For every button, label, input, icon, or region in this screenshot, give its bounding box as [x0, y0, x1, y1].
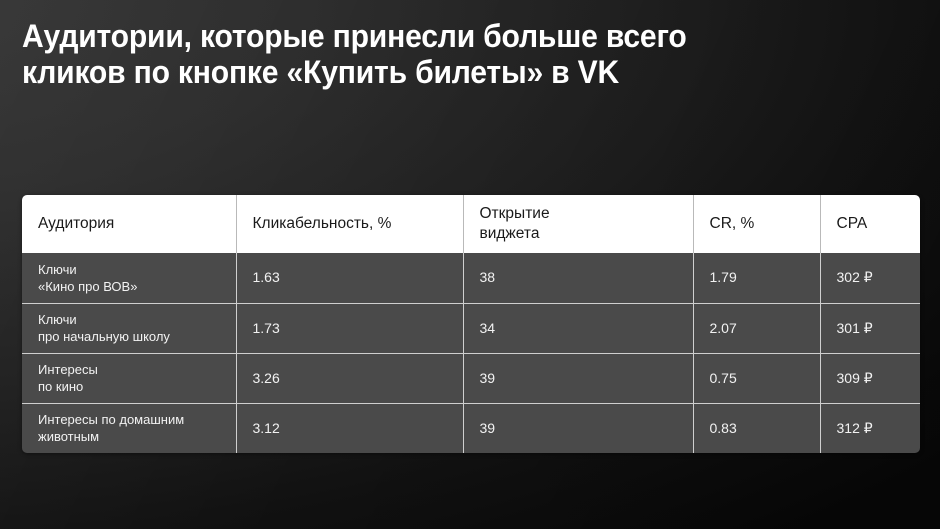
cell-widget-opens: 39: [463, 353, 693, 403]
cell-audience: Интересы по домашним животным: [22, 403, 236, 453]
cell-cr: 1.79: [693, 253, 820, 303]
table-body: Ключи «Кино про ВОВ» 1.63 38 1.79 302 ₽ …: [22, 253, 920, 453]
cell-ctr: 1.63: [236, 253, 463, 303]
table-header: Аудитория Кликабельность, % Открытие вид…: [22, 195, 920, 253]
column-header-ctr: Кликабельность, %: [236, 195, 463, 253]
table-header-row: Аудитория Кликабельность, % Открытие вид…: [22, 195, 920, 253]
cell-cpa: 312 ₽: [820, 403, 920, 453]
page-title: Аудитории, которые принесли больше всего…: [22, 18, 849, 90]
cell-widget-opens: 39: [463, 403, 693, 453]
cell-widget-opens: 34: [463, 303, 693, 353]
cell-ctr: 3.26: [236, 353, 463, 403]
cell-cpa: 309 ₽: [820, 353, 920, 403]
column-header-widget-opens: Открытие виджета: [463, 195, 693, 253]
cell-widget-opens: 38: [463, 253, 693, 303]
cell-cr: 0.75: [693, 353, 820, 403]
cell-ctr: 3.12: [236, 403, 463, 453]
cell-audience: Интересы по кино: [22, 353, 236, 403]
column-header-audience: Аудитория: [22, 195, 236, 253]
cell-audience: Ключи «Кино про ВОВ»: [22, 253, 236, 303]
cell-audience: Ключи про начальную школу: [22, 303, 236, 353]
cell-cr: 2.07: [693, 303, 820, 353]
cell-ctr: 1.73: [236, 303, 463, 353]
column-header-cr: CR, %: [693, 195, 820, 253]
table-row: Ключи «Кино про ВОВ» 1.63 38 1.79 302 ₽: [22, 253, 920, 303]
column-header-cpa: CPA: [820, 195, 920, 253]
table-row: Ключи про начальную школу 1.73 34 2.07 3…: [22, 303, 920, 353]
metrics-table-container: Аудитория Кликабельность, % Открытие вид…: [22, 195, 920, 453]
cell-cr: 0.83: [693, 403, 820, 453]
metrics-table: Аудитория Кликабельность, % Открытие вид…: [22, 195, 920, 453]
table-row: Интересы по кино 3.26 39 0.75 309 ₽: [22, 353, 920, 403]
cell-cpa: 301 ₽: [820, 303, 920, 353]
cell-cpa: 302 ₽: [820, 253, 920, 303]
table-row: Интересы по домашним животным 3.12 39 0.…: [22, 403, 920, 453]
slide-canvas: Аудитории, которые принесли больше всего…: [0, 0, 940, 529]
